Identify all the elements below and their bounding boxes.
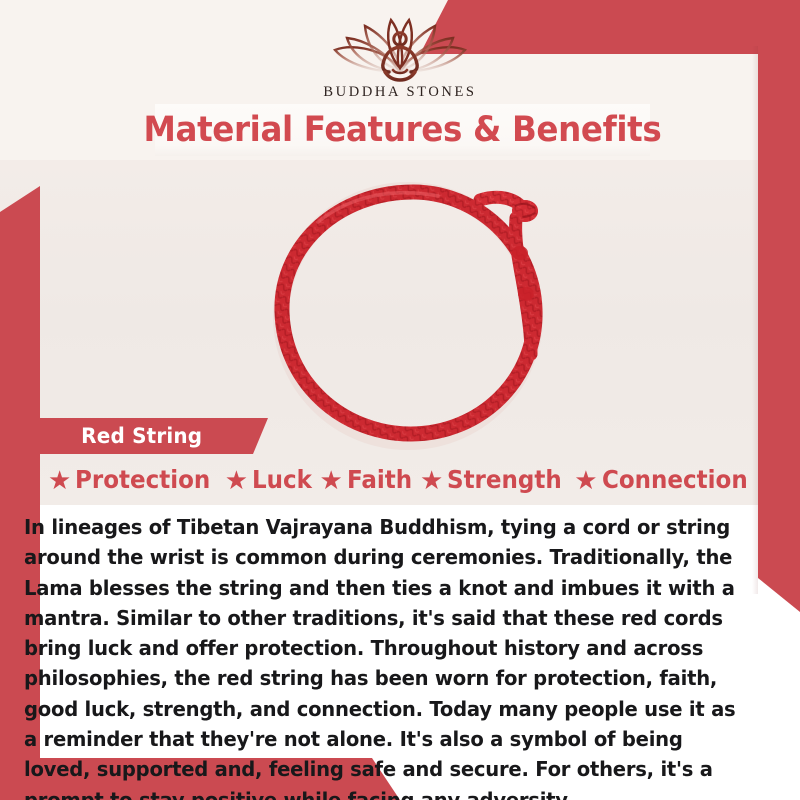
feature-label: Connection xyxy=(602,465,748,494)
star-icon: ★ xyxy=(420,467,443,493)
feature-item-connection: ★ Connection xyxy=(574,465,760,494)
star-icon: ★ xyxy=(320,467,343,493)
product-label: Red String xyxy=(81,424,202,448)
title-banner: Material Features & Benefits xyxy=(155,104,650,156)
star-icon: ★ xyxy=(574,467,597,493)
product-image-red-string-bracelet xyxy=(248,158,578,464)
product-label-banner: Red String xyxy=(18,418,268,454)
lotus-meditation-icon xyxy=(325,14,475,82)
feature-item-faith: ★ Faith xyxy=(320,465,418,494)
star-icon: ★ xyxy=(225,467,248,493)
star-icon: ★ xyxy=(48,467,71,493)
feature-label: Strength xyxy=(447,465,562,494)
brand-name: BUDDHA STONES xyxy=(0,84,800,101)
decorative-shadow-right xyxy=(752,46,758,594)
poster-canvas: BUDDHA STONES Material Features & Benefi… xyxy=(0,0,800,800)
description-paragraph: In lineages of Tibetan Vajrayana Buddhis… xyxy=(24,512,742,800)
feature-label: Luck xyxy=(252,465,312,494)
feature-item-luck: ★ Luck xyxy=(225,465,318,494)
feature-item-protection: ★ Protection xyxy=(48,465,222,494)
feature-label: Faith xyxy=(347,465,412,494)
page-title: Material Features & Benefits xyxy=(144,110,662,150)
feature-label: Protection xyxy=(75,465,210,494)
feature-item-strength: ★ Strength xyxy=(420,465,572,494)
feature-list: ★ Protection ★ Luck ★ Faith ★ Strength ★… xyxy=(48,465,760,494)
brand-logo: BUDDHA STONES xyxy=(0,14,800,101)
